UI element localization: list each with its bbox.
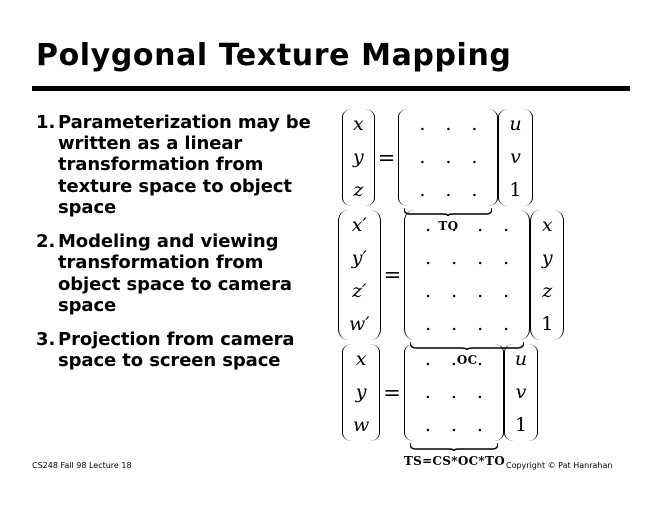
equals-sign: = [381, 263, 405, 287]
matrix-label: TS=CS*OC*TO [404, 454, 504, 468]
matrix-row: . . . [409, 141, 487, 174]
rhs-vector: x y z 1 [530, 209, 564, 341]
list-item-label: Modeling and viewing transformation from… [58, 231, 326, 316]
vector-cell: 1 [541, 308, 553, 341]
matrix-cell: . [415, 216, 441, 235]
matrix-cell: . [467, 216, 493, 235]
equals-sign: = [375, 146, 399, 170]
matrix-cell: . [441, 249, 467, 268]
matrix-row: . . . [415, 376, 493, 409]
rhs-vector: u v 1 [504, 343, 538, 442]
underbrace-icon [410, 443, 498, 451]
matrix-row: . . . . [415, 308, 519, 341]
matrix-row: . . . . [415, 242, 519, 275]
matrix: . . . . . . . . . [404, 343, 504, 442]
matrix-cell: . [467, 282, 493, 301]
list-item-label: Projection from camera space to screen s… [58, 329, 326, 371]
vector-cell: x′ [349, 209, 370, 242]
equation-texture-to-object: x y z = . . . . . . [342, 108, 656, 207]
matrix-cell: . [461, 148, 487, 167]
vector-cell: u [515, 343, 527, 376]
vector-cell: u [509, 108, 521, 141]
matrix-cell: . [461, 181, 487, 200]
matrix-with-label: . . . . . . . . . . . . [404, 209, 530, 341]
vector-cell: x [541, 209, 553, 242]
vector-cell: z′ [349, 275, 370, 308]
vector-cell: w [353, 409, 369, 442]
footer-copyright: Copyright © Pat Hanrahan [506, 461, 612, 470]
lhs-vector: x′ y′ z′ w′ [338, 209, 381, 341]
vector-cell: y [353, 141, 364, 174]
matrix-cell: . [467, 315, 493, 334]
matrix-row: . . . . [415, 275, 519, 308]
vector-cell: v [509, 141, 521, 174]
lhs-vector: x y z [342, 108, 375, 207]
matrix-row: . . . [409, 108, 487, 141]
matrix-cell: . [467, 350, 493, 369]
vector-cell: y′ [349, 242, 370, 275]
list-item-label: Parameterization may be written as a lin… [58, 112, 326, 218]
list-item: 2. Modeling and viewing transformation f… [36, 231, 326, 316]
list-item: 3. Projection from camera space to scree… [36, 329, 326, 371]
vector-cell: 1 [515, 409, 527, 442]
equation-group: x y z = . . . . . . [336, 108, 656, 442]
matrix-cell: . [441, 216, 467, 235]
matrix-cell: . [415, 249, 441, 268]
rhs-vector: u v 1 [498, 108, 532, 207]
vector-cell: y [353, 376, 369, 409]
matrix: . . . . . . . . . [398, 108, 498, 207]
list-item: 1. Parameterization may be written as a … [36, 112, 326, 218]
matrix-cell: . [461, 115, 487, 134]
matrix-cell: . [467, 383, 493, 402]
matrix-cell: . [441, 350, 467, 369]
matrix-cell: . [409, 148, 435, 167]
matrix-row: . . . [415, 409, 493, 442]
bullet-list: 1. Parameterization may be written as a … [36, 112, 326, 385]
vector-cell: y [541, 242, 553, 275]
matrix-cell: . [441, 416, 467, 435]
matrix-cell: . [435, 148, 461, 167]
vector-cell: z [541, 275, 553, 308]
slide: Polygonal Texture Mapping 1. Parameteriz… [0, 0, 660, 510]
vector-cell: 1 [509, 174, 521, 207]
matrix-cell: . [493, 282, 519, 301]
equation-object-to-camera: x′ y′ z′ w′ = . . . . . . . [338, 209, 656, 341]
matrix-cell: . [493, 216, 519, 235]
matrix-row: . . . . [415, 209, 519, 242]
list-item-number: 1. [36, 112, 58, 133]
matrix-cell: . [409, 115, 435, 134]
lhs-vector: x y w [342, 343, 380, 442]
page-title: Polygonal Texture Mapping [36, 38, 511, 73]
matrix-cell: . [435, 115, 461, 134]
matrix-cell: . [415, 416, 441, 435]
matrix-cell: . [467, 416, 493, 435]
footer-course-info: CS248 Fall 98 Lecture 18 [32, 461, 132, 470]
matrix-cell: . [467, 249, 493, 268]
matrix-cell: . [493, 315, 519, 334]
matrix-with-label: . . . . . . . . . [404, 343, 504, 442]
vector-cell: w′ [349, 308, 370, 341]
vector-cell: v [515, 376, 527, 409]
matrix-cell: . [415, 315, 441, 334]
title-divider [32, 86, 630, 91]
equation-camera-to-screen: x y w = . . . . . . [342, 343, 656, 442]
list-item-number: 3. [36, 329, 58, 350]
matrix: . . . . . . . . . . . . [404, 209, 530, 341]
matrix-cell: . [441, 282, 467, 301]
matrix-row: . . . [409, 174, 487, 207]
matrix-cell: . [441, 315, 467, 334]
list-item-number: 2. [36, 231, 58, 252]
matrix-cell: . [435, 181, 461, 200]
matrix-cell: . [441, 383, 467, 402]
vector-cell: z [353, 174, 364, 207]
matrix-with-label: . . . . . . . . . [398, 108, 498, 207]
matrix-cell: . [415, 350, 441, 369]
vector-cell: x [353, 343, 369, 376]
equals-sign: = [380, 381, 404, 405]
matrix-cell: . [409, 181, 435, 200]
matrix-cell: . [415, 383, 441, 402]
matrix-cell: . [493, 249, 519, 268]
matrix-row: . . . [415, 343, 493, 376]
matrix-cell: . [415, 282, 441, 301]
vector-cell: x [353, 108, 364, 141]
